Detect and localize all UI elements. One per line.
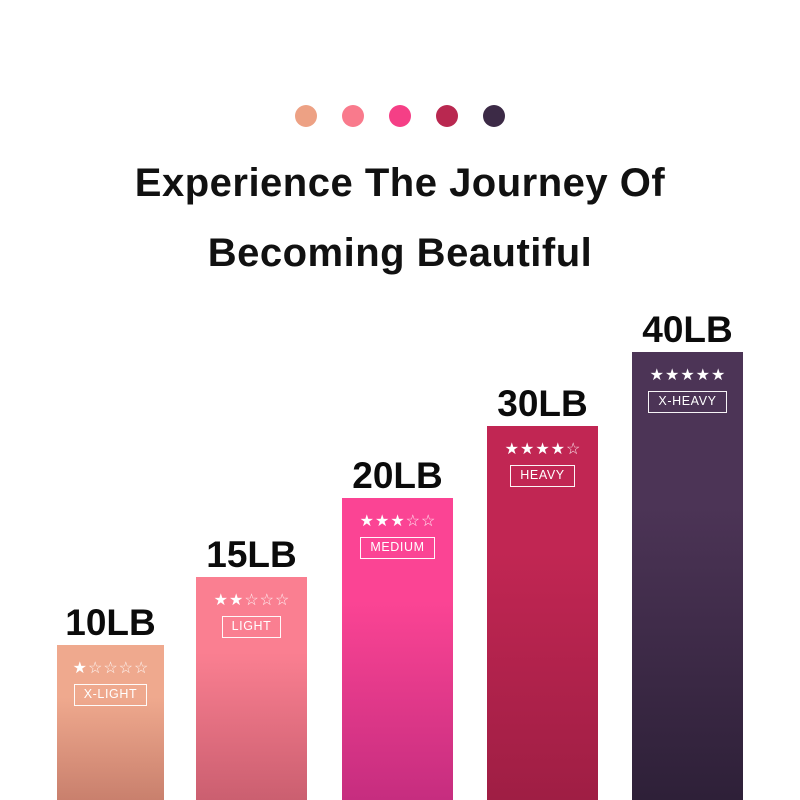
star-filled-icon: ★ <box>505 442 519 458</box>
rating-stars: ★★★★★ <box>650 368 726 384</box>
star-hollow-icon: ☆ <box>260 593 274 609</box>
star-filled-icon: ★ <box>696 368 710 384</box>
star-filled-icon: ★ <box>520 442 534 458</box>
bar-group-10lb[interactable]: 10LB★☆☆☆☆X-LIGHT <box>57 645 164 800</box>
bar-content: ★★★★☆HEAVY <box>487 442 598 487</box>
bar-group-30lb[interactable]: 30LB★★★★☆HEAVY <box>487 426 598 800</box>
bar-group-20lb[interactable]: 20LB★★★☆☆MEDIUM <box>342 498 453 800</box>
star-filled-icon: ★ <box>390 514 404 530</box>
bar-value-label: 40LB <box>642 311 732 348</box>
bar-fill: ★★★★★X-HEAVY <box>632 352 743 800</box>
star-filled-icon: ★ <box>680 368 694 384</box>
star-filled-icon: ★ <box>375 514 389 530</box>
rating-stars: ★★★☆☆ <box>360 514 436 530</box>
bar-value-label: 30LB <box>497 385 587 422</box>
infographic-canvas: Experience The Journey Of Becoming Beaut… <box>0 0 800 800</box>
star-hollow-icon: ☆ <box>244 593 258 609</box>
bar-content: ★★★★★X-HEAVY <box>632 368 743 413</box>
star-filled-icon: ★ <box>229 593 243 609</box>
star-hollow-icon: ☆ <box>88 661 102 677</box>
level-badge: MEDIUM <box>360 537 434 559</box>
star-hollow-icon: ☆ <box>134 661 148 677</box>
star-filled-icon: ★ <box>665 368 679 384</box>
rating-stars: ★☆☆☆☆ <box>73 661 149 677</box>
star-hollow-icon: ☆ <box>566 442 580 458</box>
star-hollow-icon: ☆ <box>406 514 420 530</box>
star-hollow-icon: ☆ <box>103 661 117 677</box>
rating-stars: ★★★★☆ <box>505 442 581 458</box>
star-filled-icon: ★ <box>73 661 87 677</box>
bar-group-15lb[interactable]: 15LB★★☆☆☆LIGHT <box>196 577 307 800</box>
star-filled-icon: ★ <box>535 442 549 458</box>
bar-value-label: 10LB <box>65 604 155 641</box>
level-badge: HEAVY <box>510 465 574 487</box>
star-filled-icon: ★ <box>551 442 565 458</box>
star-filled-icon: ★ <box>214 593 228 609</box>
level-badge: X-HEAVY <box>648 391 726 413</box>
bar-group-40lb[interactable]: 40LB★★★★★X-HEAVY <box>632 352 743 800</box>
bar-content: ★★★☆☆MEDIUM <box>342 514 453 559</box>
resistance-level-bar-chart: 10LB★☆☆☆☆X-LIGHT15LB★★☆☆☆LIGHT20LB★★★☆☆M… <box>0 0 800 800</box>
star-hollow-icon: ☆ <box>119 661 133 677</box>
star-filled-icon: ★ <box>360 514 374 530</box>
star-filled-icon: ★ <box>650 368 664 384</box>
level-badge: X-LIGHT <box>74 684 148 706</box>
bar-value-label: 15LB <box>206 536 296 573</box>
bar-fill: ★★☆☆☆LIGHT <box>196 577 307 800</box>
bar-content: ★★☆☆☆LIGHT <box>196 593 307 638</box>
star-filled-icon: ★ <box>711 368 725 384</box>
level-badge: LIGHT <box>222 616 282 638</box>
bar-fill: ★★★★☆HEAVY <box>487 426 598 800</box>
bar-fill: ★☆☆☆☆X-LIGHT <box>57 645 164 800</box>
bar-content: ★☆☆☆☆X-LIGHT <box>57 661 164 706</box>
star-hollow-icon: ☆ <box>421 514 435 530</box>
bar-fill: ★★★☆☆MEDIUM <box>342 498 453 800</box>
bar-value-label: 20LB <box>352 457 442 494</box>
rating-stars: ★★☆☆☆ <box>214 593 290 609</box>
star-hollow-icon: ☆ <box>275 593 289 609</box>
